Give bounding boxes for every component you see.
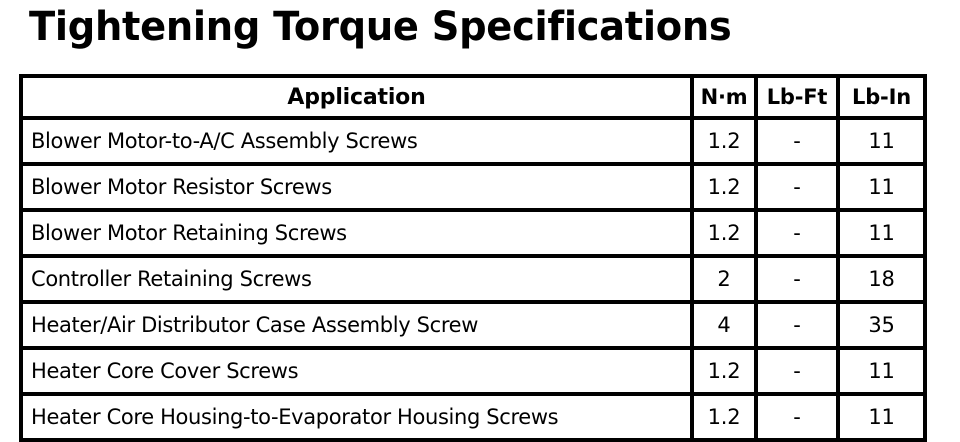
cell-nm: 1.2 (692, 394, 756, 440)
table-body: Blower Motor-to-A/C Assembly Screws 1.2 … (21, 118, 925, 440)
cell-lbin: 11 (838, 118, 925, 164)
cell-lbin: 18 (838, 256, 925, 302)
page-title: Tightening Torque Specifications (29, 2, 731, 52)
column-header-nm: N·m (692, 76, 756, 118)
cell-lbin: 11 (838, 210, 925, 256)
column-header-application: Application (21, 76, 692, 118)
table-row: Blower Motor Resistor Screws 1.2 - 11 (21, 164, 925, 210)
cell-lbin: 11 (838, 348, 925, 394)
torque-specifications-table: Application N·m Lb-Ft Lb-In Blower Motor… (19, 74, 927, 442)
cell-lbft: - (756, 210, 838, 256)
cell-lbft: - (756, 118, 838, 164)
cell-application: Blower Motor-to-A/C Assembly Screws (21, 118, 692, 164)
table-row: Blower Motor Retaining Screws 1.2 - 11 (21, 210, 925, 256)
cell-nm: 4 (692, 302, 756, 348)
cell-nm: 1.2 (692, 348, 756, 394)
cell-nm: 1.2 (692, 164, 756, 210)
torque-spec-page: Tightening Torque Specifications Applica… (0, 0, 960, 432)
table-row: Heater Core Cover Screws 1.2 - 11 (21, 348, 925, 394)
cell-lbft: - (756, 256, 838, 302)
table-header: Application N·m Lb-Ft Lb-In (21, 76, 925, 118)
cell-application: Heater Core Housing-to-Evaporator Housin… (21, 394, 692, 440)
cell-nm: 1.2 (692, 210, 756, 256)
cell-lbin: 35 (838, 302, 925, 348)
cell-lbft: - (756, 164, 838, 210)
cell-nm: 1.2 (692, 118, 756, 164)
table-row: Heater/Air Distributor Case Assembly Scr… (21, 302, 925, 348)
cell-application: Blower Motor Retaining Screws (21, 210, 692, 256)
cell-lbft: - (756, 348, 838, 394)
table-row: Blower Motor-to-A/C Assembly Screws 1.2 … (21, 118, 925, 164)
cell-lbft: - (756, 394, 838, 440)
cell-nm: 2 (692, 256, 756, 302)
cell-lbin: 11 (838, 394, 925, 440)
cell-application: Controller Retaining Screws (21, 256, 692, 302)
cell-lbft: - (756, 302, 838, 348)
cell-application: Heater Core Cover Screws (21, 348, 692, 394)
table-header-row: Application N·m Lb-Ft Lb-In (21, 76, 925, 118)
table-row: Heater Core Housing-to-Evaporator Housin… (21, 394, 925, 440)
column-header-lbft: Lb-Ft (756, 76, 838, 118)
cell-lbin: 11 (838, 164, 925, 210)
cell-application: Heater/Air Distributor Case Assembly Scr… (21, 302, 692, 348)
column-header-lbin: Lb-In (838, 76, 925, 118)
torque-table-container: Application N·m Lb-Ft Lb-In Blower Motor… (19, 74, 923, 442)
table-row: Controller Retaining Screws 2 - 18 (21, 256, 925, 302)
cell-application: Blower Motor Resistor Screws (21, 164, 692, 210)
